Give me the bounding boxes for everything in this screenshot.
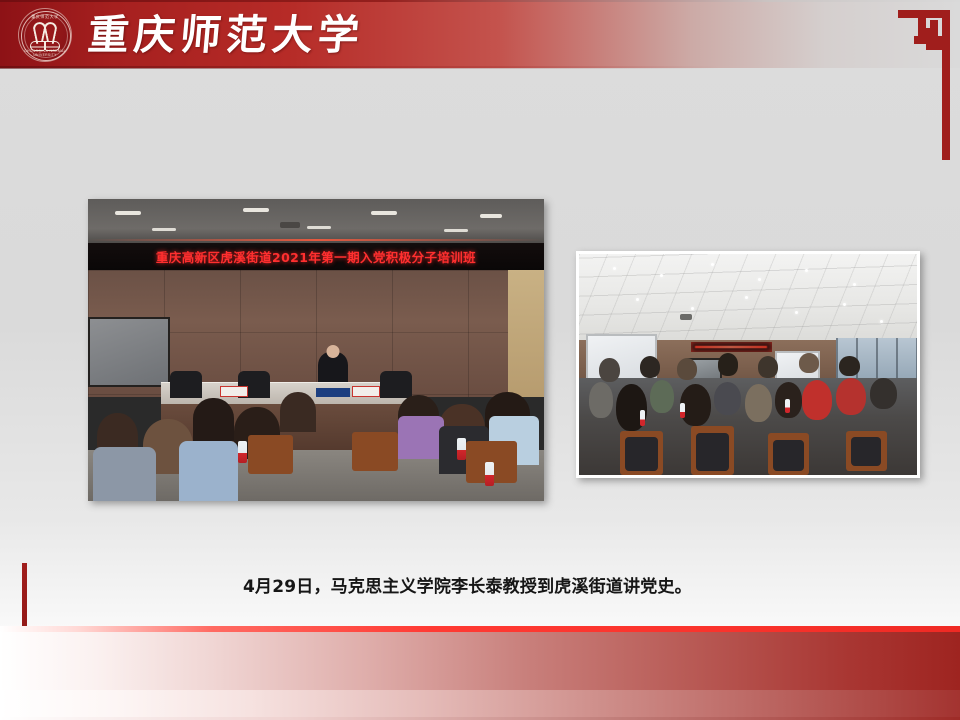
slide-caption: 4月29日，马克思主义学院李长泰教授到虎溪街道讲党史。	[243, 572, 692, 597]
photo2-attendee	[718, 353, 738, 375]
photo1-projector	[280, 222, 300, 228]
photo2-ceiling-light	[745, 296, 748, 299]
photo1-ceiling-light	[307, 226, 331, 229]
photo2-attendee	[677, 358, 697, 380]
photo2-ceiling-light	[853, 283, 856, 286]
photo2-chair-seat	[696, 433, 730, 471]
photo1-laptop	[316, 388, 350, 397]
photo1-attendee-shirt	[398, 416, 444, 458]
photo1-stage-chair	[380, 371, 412, 398]
photo2-chair-seat	[625, 437, 659, 470]
photo1-water-bottle	[457, 438, 466, 460]
photo1-audience-chair	[248, 435, 294, 474]
photo2-attendee	[870, 378, 897, 409]
photo1-audience-chair	[352, 432, 398, 471]
photo2-ceiling-light	[691, 307, 694, 310]
photo1-banner-glow	[88, 239, 544, 241]
photo2-led-banner	[691, 342, 772, 352]
photo2-projector	[680, 314, 692, 320]
photo1-attendee-shirt	[179, 441, 238, 501]
photo1-ceiling-light	[152, 228, 176, 231]
photo1-water-bottle	[238, 441, 247, 463]
photo2-ceiling-light	[711, 263, 714, 266]
photo2-attendee	[745, 384, 772, 422]
header-top-rule	[0, 0, 960, 2]
photo1-ceiling-light	[115, 211, 141, 215]
photo2-chair-seat	[851, 437, 881, 466]
logo-ring-top-text: 重庆师范大学	[18, 14, 72, 20]
photo1-name-plate	[220, 386, 248, 397]
photo2-attendee-red	[802, 380, 832, 420]
photo1-name-plate	[352, 386, 380, 397]
corner-ornament-top-right-icon	[850, 0, 960, 160]
slide-root: 重庆师范大学 CHONGQING NORMAL UNIVERSITY 重庆师范大…	[0, 0, 960, 720]
university-name-title: 重庆师范大学	[85, 6, 366, 64]
photo2-water-bottle	[640, 410, 645, 426]
logo-flame-glyph	[34, 22, 56, 42]
photo1-right-wall-panel	[508, 270, 544, 397]
photo1-attendee-shirt	[93, 447, 157, 501]
photo1-banner: 重庆高新区虎溪街道2021年第一期入党积极分子培训班	[88, 243, 544, 270]
header-band-shadow	[0, 66, 720, 69]
photo1-display-screen	[88, 317, 170, 387]
photo1-attendee	[193, 398, 234, 440]
photo2-water-bottle	[680, 403, 685, 418]
university-logo-icon: 重庆师范大学 CHONGQING NORMAL UNIVERSITY	[18, 8, 72, 62]
photo2-attendee	[839, 356, 859, 376]
photo2-attendee-red	[836, 378, 866, 416]
photo1-banner-text: 重庆高新区虎溪街道2021年第一期入党积极分子培训班	[156, 247, 476, 266]
photo1-ceiling-light	[444, 229, 468, 232]
photo-lecture-hall-front: 重庆高新区虎溪街道2021年第一期入党积极分子培训班	[88, 199, 544, 501]
logo-ring-bottom-text: CHONGQING NORMAL UNIVERSITY	[18, 49, 72, 57]
photo2-attendee	[650, 380, 674, 413]
photo2-attendee	[714, 382, 741, 415]
footer-gradient-fill	[0, 690, 960, 720]
photo1-speaker-figure	[318, 352, 348, 385]
photo2-ceiling-light	[660, 274, 663, 277]
footer-gradient-band	[0, 632, 960, 690]
photo2-ceiling-light	[843, 303, 846, 306]
photo2-attendee	[589, 382, 613, 417]
photo1-stage-chair	[170, 371, 202, 398]
photo2-attendee	[799, 353, 819, 373]
photo2-water-bottle	[785, 399, 790, 413]
photo2-chair-seat	[773, 440, 803, 471]
photo1-attendee	[280, 392, 316, 431]
photo1-ceiling-light	[480, 214, 502, 218]
photo2-ceiling	[579, 254, 917, 342]
photo1-ceiling-light	[243, 208, 269, 212]
photo2-attendee	[640, 356, 660, 378]
photo1-water-bottle	[485, 462, 494, 486]
photo2-attendee	[599, 358, 619, 382]
photo-auditorium-audience	[576, 251, 920, 478]
photo1-ceiling-light	[371, 211, 397, 215]
photo2-attendee	[758, 356, 778, 378]
